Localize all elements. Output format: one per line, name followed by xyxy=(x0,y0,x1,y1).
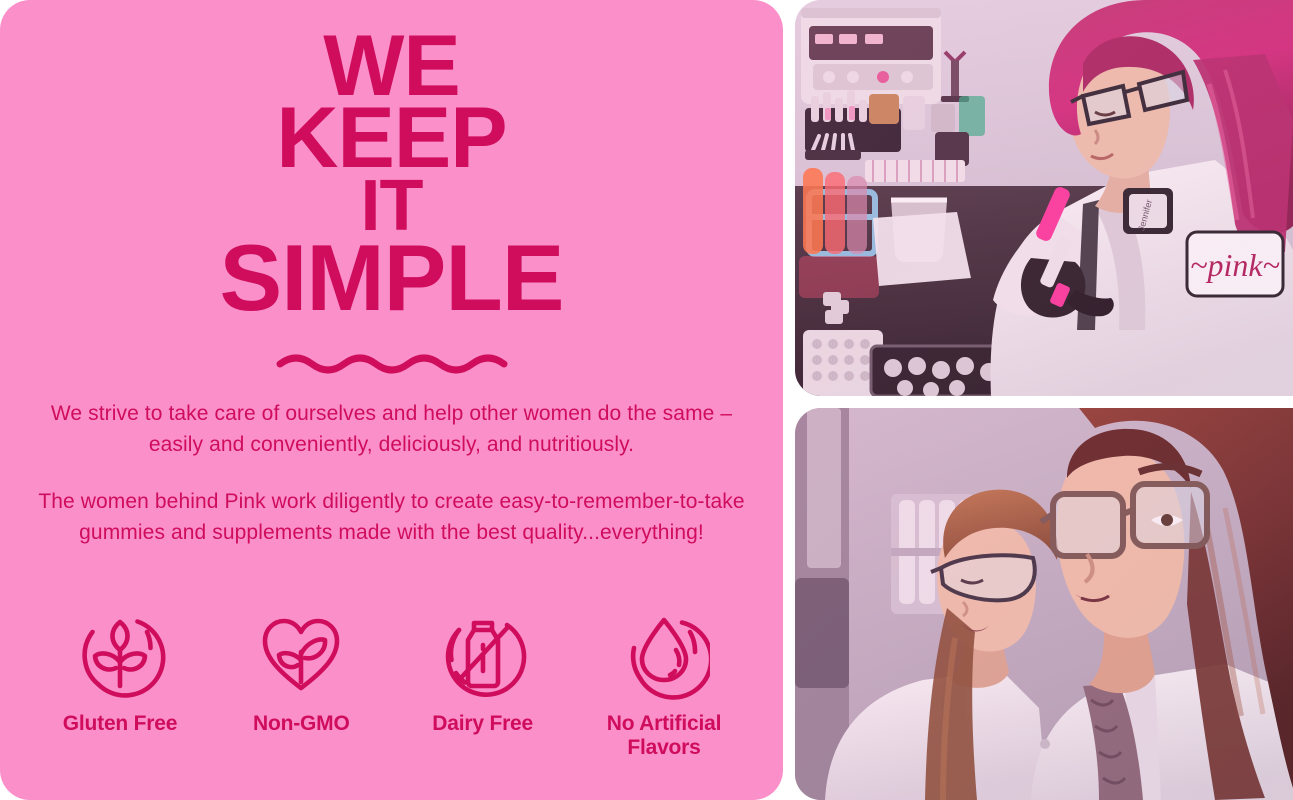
gluten-free-icon xyxy=(74,608,166,700)
headline-line-4: SIMPLE xyxy=(0,239,783,318)
page-title: WE KEEP IT SIMPLE xyxy=(0,30,783,318)
headline-line-2: KEEP xyxy=(0,102,783,174)
body-copy: We strive to take care of ourselves and … xyxy=(28,398,755,548)
wavy-divider xyxy=(0,352,783,374)
badge-label-no-artificial-flavors: No Artificial Flavors xyxy=(580,712,748,760)
badge-non-gmo: Non-GMO xyxy=(217,608,385,736)
badge-label-non-gmo: Non-GMO xyxy=(253,712,350,736)
two-scientists-illustration xyxy=(795,408,1293,800)
badge-gluten-free: Gluten Free xyxy=(36,608,204,736)
wavy-divider-icon xyxy=(276,352,508,374)
two-scientists-photo xyxy=(795,408,1293,800)
lab-technician-writing-photo: Jennifer ~pink~ xyxy=(795,0,1293,396)
badge-dairy-free: Dairy Free xyxy=(399,608,567,736)
dairy-free-bottle-icon xyxy=(437,608,529,700)
lab-technician-writing-illustration: Jennifer ~pink~ xyxy=(795,0,1293,396)
no-artificial-flavors-droplet-icon xyxy=(618,608,710,700)
badge-label-dairy-free: Dairy Free xyxy=(432,712,533,736)
non-gmo-heart-sprout-icon xyxy=(255,608,347,700)
paragraph-1: We strive to take care of ourselves and … xyxy=(28,398,755,460)
promo-banner: WE KEEP IT SIMPLE We strive to take care… xyxy=(0,0,1293,800)
badge-no-artificial-flavors: No Artificial Flavors xyxy=(580,608,748,760)
left-content-panel: WE KEEP IT SIMPLE We strive to take care… xyxy=(0,0,783,800)
badge-label-gluten-free: Gluten Free xyxy=(63,712,178,736)
paragraph-2: The women behind Pink work diligently to… xyxy=(28,486,755,548)
claims-badge-row: Gluten Free Non-GMO xyxy=(36,608,748,760)
